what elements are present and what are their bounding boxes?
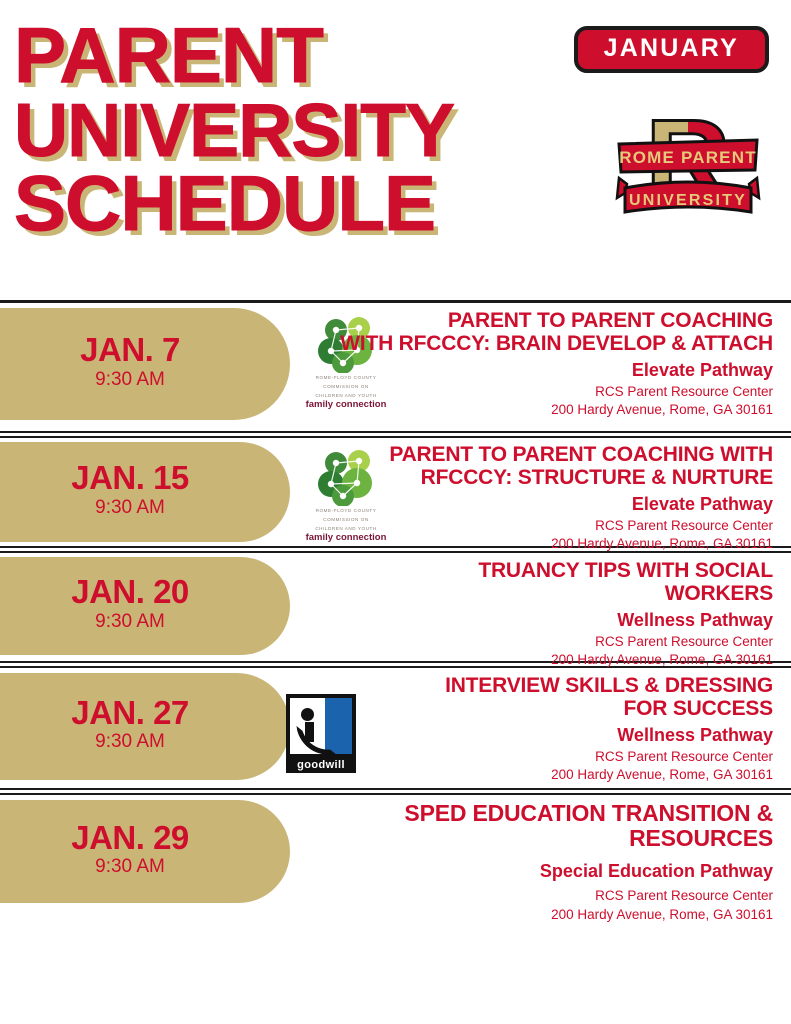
title-line-3: SCHEDULE xyxy=(14,166,574,242)
event-location-line-1: RCS Parent Resource Center xyxy=(283,518,773,534)
event-title-line-2: RFCCCY: STRUCTURE & NURTURE xyxy=(283,466,773,489)
event-title-line-2: WITH RFCCCY: BRAIN DEVELOP & ATTACH xyxy=(283,332,773,355)
event-location-line-1: RCS Parent Resource Center xyxy=(253,888,773,904)
schedule-row[interactable]: JAN. 15 9:30 AM xyxy=(0,438,791,546)
date-pill: JAN. 20 9:30 AM xyxy=(0,557,290,655)
event-pathway: Elevate Pathway xyxy=(283,493,773,516)
event-location-line-1: RCS Parent Resource Center xyxy=(283,384,773,400)
event-title-line-1: SPED EDUCATION TRANSITION & xyxy=(253,801,773,826)
event-details: TRUANCY TIPS WITH SOCIAL WORKERS Wellnes… xyxy=(283,559,773,669)
event-pathway: Wellness Pathway xyxy=(283,724,773,747)
time-label: 9:30 AM xyxy=(95,368,165,393)
date-pill: JAN. 27 9:30 AM xyxy=(0,673,290,780)
page-title: PARENT UNIVERSITY SCHEDULE xyxy=(14,18,574,242)
event-title-line-1: PARENT TO PARENT COACHING xyxy=(283,309,773,332)
schedule-list: JAN. 7 9:30 AM xyxy=(0,300,791,935)
time-label: 9:30 AM xyxy=(95,730,165,755)
schedule-row[interactable]: JAN. 29 9:30 AM SPED EDUCATION TRANSITIO… xyxy=(0,795,791,935)
event-title-line-2: FOR SUCCESS xyxy=(283,697,773,720)
event-location-line-2: 200 Hardy Avenue, Rome, GA 30161 xyxy=(253,907,773,923)
event-pathway: Wellness Pathway xyxy=(283,609,773,632)
schedule-row[interactable]: JAN. 7 9:30 AM xyxy=(0,303,791,431)
date-label: JAN. 7 xyxy=(80,333,180,367)
event-location-line-2: 200 Hardy Avenue, Rome, GA 30161 xyxy=(283,767,773,783)
schedule-row[interactable]: JAN. 27 9:30 AM goodwill INTERVIEW SKILL… xyxy=(0,668,791,788)
title-line-1: PARENT xyxy=(14,18,574,94)
time-label: 9:30 AM xyxy=(95,496,165,521)
date-label: JAN. 15 xyxy=(71,461,189,495)
date-label: JAN. 27 xyxy=(71,696,189,730)
rome-parent-university-seal-icon: R R ROME PARENT UNIVERSITY xyxy=(613,98,763,223)
date-pill: JAN. 7 9:30 AM xyxy=(0,308,290,420)
event-title-line-2: RESOURCES xyxy=(253,826,773,851)
poster-header: PARENT UNIVERSITY SCHEDULE JANUARY R R xyxy=(0,0,791,300)
event-location-line-1: RCS Parent Resource Center xyxy=(283,634,773,650)
time-label: 9:30 AM xyxy=(95,855,165,880)
date-label: JAN. 20 xyxy=(71,575,189,609)
title-line-2: UNIVERSITY xyxy=(14,94,574,167)
event-details: PARENT TO PARENT COACHING WITH RFCCCY: S… xyxy=(283,443,773,553)
event-title-line-2: WORKERS xyxy=(283,582,773,605)
poster: PARENT UNIVERSITY SCHEDULE JANUARY R R xyxy=(0,0,791,1024)
svg-text:UNIVERSITY: UNIVERSITY xyxy=(629,192,747,209)
event-details: PARENT TO PARENT COACHING WITH RFCCCY: B… xyxy=(283,309,773,419)
event-title-line-1: TRUANCY TIPS WITH SOCIAL xyxy=(283,559,773,582)
event-pathway: Special Education Pathway xyxy=(253,860,773,883)
event-location-line-1: RCS Parent Resource Center xyxy=(283,749,773,765)
event-title-line-1: PARENT TO PARENT COACHING WITH xyxy=(283,443,773,466)
event-location-line-2: 200 Hardy Avenue, Rome, GA 30161 xyxy=(283,652,773,668)
date-pill: JAN. 15 9:30 AM xyxy=(0,442,290,542)
date-label: JAN. 29 xyxy=(71,821,189,855)
event-location-line-2: 200 Hardy Avenue, Rome, GA 30161 xyxy=(283,536,773,552)
event-details: SPED EDUCATION TRANSITION & RESOURCES Sp… xyxy=(253,801,773,923)
event-location-line-2: 200 Hardy Avenue, Rome, GA 30161 xyxy=(283,402,773,418)
event-pathway: Elevate Pathway xyxy=(283,359,773,382)
schedule-row[interactable]: JAN. 20 9:30 AM TRUANCY TIPS WITH SOCIAL… xyxy=(0,553,791,661)
event-details: INTERVIEW SKILLS & DRESSING FOR SUCCESS … xyxy=(283,674,773,784)
svg-text:ROME PARENT: ROME PARENT xyxy=(619,148,757,167)
month-badge: JANUARY xyxy=(574,26,769,73)
time-label: 9:30 AM xyxy=(95,610,165,635)
event-title-line-1: INTERVIEW SKILLS & DRESSING xyxy=(283,674,773,697)
date-pill: JAN. 29 9:30 AM xyxy=(0,800,290,903)
